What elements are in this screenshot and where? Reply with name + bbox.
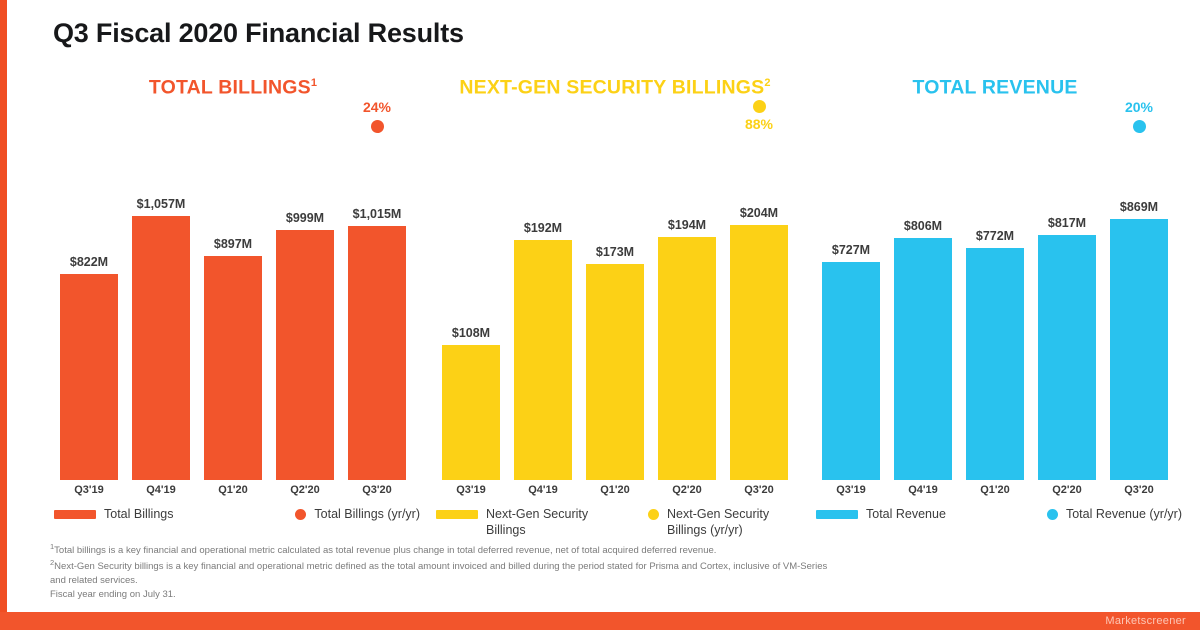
footnote-1-text: Total billings is a key financial and op… (54, 545, 716, 556)
left-accent-stripe (0, 0, 7, 630)
legend-label: Total Revenue (yr/yr) (1066, 506, 1182, 522)
x-axis-tick-label: Q3'20 (1110, 484, 1168, 496)
bar-column: $999M (276, 160, 334, 480)
bar-group: $108M$192M$173M$194M$204M (442, 160, 788, 480)
growth-callout: 20% (1109, 100, 1169, 133)
footnote-3: and related services. (50, 574, 1150, 588)
bar (1110, 219, 1168, 480)
growth-dot-marker (1133, 120, 1146, 133)
footnote-1: 1Total billings is a key financial and o… (50, 542, 1150, 558)
growth-callout: 24% (347, 100, 407, 133)
legend-bar-swatch-icon (436, 510, 478, 519)
x-axis-tick-label: Q2'20 (1038, 484, 1096, 496)
bar-value-label: $173M (596, 245, 634, 259)
bar-value-label: $108M (452, 326, 490, 340)
chart-legend: Total RevenueTotal Revenue (yr/yr) (816, 506, 1182, 522)
bar-column: $897M (204, 160, 262, 480)
bar (966, 248, 1024, 480)
bar-column: $1,057M (132, 160, 190, 480)
bar-value-label: $192M (524, 221, 562, 235)
bar (132, 216, 190, 480)
bar-column: $806M (894, 160, 952, 480)
watermark: Marketscreener (1105, 612, 1186, 630)
bar-value-label: $817M (1048, 216, 1086, 230)
bar-column: $1,015M (348, 160, 406, 480)
x-axis-tick-label: Q2'20 (276, 484, 334, 496)
legend-item[interactable]: Total Revenue (816, 506, 946, 522)
x-axis-labels: Q3'19Q4'19Q1'20Q2'20Q3'20 (442, 484, 788, 496)
bar-column: $772M (966, 160, 1024, 480)
footnote-4: Fiscal year ending on July 31. (50, 588, 1150, 602)
chart-legend: Total BillingsTotal Billings (yr/yr) (54, 506, 420, 522)
bar (658, 237, 716, 480)
legend-item[interactable]: Next-Gen Security Billings (436, 506, 621, 538)
bar (822, 262, 880, 480)
growth-percent: 20% (1109, 100, 1169, 114)
chart-title-text: TOTAL REVENUE (912, 77, 1077, 99)
footnotes: 1Total billings is a key financial and o… (50, 542, 1150, 601)
bar-column: $173M (586, 160, 644, 480)
legend-label: Total Revenue (866, 506, 946, 522)
footnote-2: 2Next-Gen Security billings is a key fin… (50, 558, 1150, 574)
legend-dot-swatch-icon (295, 509, 306, 520)
x-axis-tick-label: Q3'19 (822, 484, 880, 496)
x-axis-tick-label: Q1'20 (586, 484, 644, 496)
chart-title: TOTAL BILLINGS1 (38, 74, 428, 98)
legend-dot-swatch-icon (1047, 509, 1058, 520)
bar-column: $727M (822, 160, 880, 480)
x-axis-tick-label: Q3'19 (60, 484, 118, 496)
chart-title-superscript: 1 (311, 77, 317, 89)
bar (348, 226, 406, 480)
bar (894, 238, 952, 480)
bottom-accent-bar (0, 612, 1200, 630)
bar-value-label: $869M (1120, 200, 1158, 214)
bar (276, 230, 334, 480)
legend-label: Next-Gen Security Billings (yr/yr) (667, 506, 802, 538)
x-axis-tick-label: Q2'20 (658, 484, 716, 496)
growth-percent: 88% (729, 117, 789, 131)
chart-panel-total-revenue: TOTAL REVENUE 20% $727M$806M$772M$817M$8… (800, 74, 1190, 534)
plot-area: $108M$192M$173M$194M$204M (420, 160, 810, 480)
chart-panel-nextgen-security-billings: NEXT-GEN SECURITY BILLINGS2 88% $108M$19… (420, 74, 810, 534)
bar (60, 274, 118, 480)
x-axis-labels: Q3'19Q4'19Q1'20Q2'20Q3'20 (60, 484, 406, 496)
slide-root: Q3 Fiscal 2020 Financial Results TOTAL B… (0, 0, 1200, 630)
bar-value-label: $727M (832, 243, 870, 257)
chart-title-text: NEXT-GEN SECURITY BILLINGS (459, 77, 764, 99)
chart-title-text: TOTAL BILLINGS (149, 77, 311, 99)
bar-value-label: $1,057M (137, 197, 186, 211)
chart-panel-total-billings: TOTAL BILLINGS1 24% $822M$1,057M$897M$99… (38, 74, 428, 534)
bar-value-label: $999M (286, 211, 324, 225)
bar-column: $822M (60, 160, 118, 480)
bar-column: $869M (1110, 160, 1168, 480)
legend-bar-swatch-icon (54, 510, 96, 519)
bar-group: $727M$806M$772M$817M$869M (822, 160, 1168, 480)
bar-value-label: $897M (214, 237, 252, 251)
legend-label: Total Billings (yr/yr) (314, 506, 420, 522)
x-axis-tick-label: Q3'19 (442, 484, 500, 496)
bar (586, 264, 644, 480)
bar-value-label: $806M (904, 219, 942, 233)
bar (730, 225, 788, 480)
bar-value-label: $204M (740, 206, 778, 220)
x-axis-tick-label: Q3'20 (730, 484, 788, 496)
bar-value-label: $772M (976, 229, 1014, 243)
growth-dot-marker (371, 120, 384, 133)
chart-legend: Next-Gen Security BillingsNext-Gen Secur… (436, 506, 802, 538)
footnote-2-text: Next-Gen Security billings is a key fina… (54, 561, 827, 572)
bar-column: $817M (1038, 160, 1096, 480)
bar-column: $204M (730, 160, 788, 480)
legend-label: Next-Gen Security Billings (486, 506, 621, 538)
bar (1038, 235, 1096, 480)
legend-bar-swatch-icon (816, 510, 858, 519)
chart-title-superscript: 2 (764, 77, 770, 89)
x-axis-tick-label: Q4'19 (132, 484, 190, 496)
legend-item[interactable]: Total Revenue (yr/yr) (1047, 506, 1182, 522)
plot-area: $822M$1,057M$897M$999M$1,015M (38, 160, 428, 480)
bar-value-label: $194M (668, 218, 706, 232)
x-axis-tick-label: Q4'19 (514, 484, 572, 496)
bar (514, 240, 572, 480)
growth-percent: 24% (347, 100, 407, 114)
page-title: Q3 Fiscal 2020 Financial Results (53, 18, 464, 49)
bar (204, 256, 262, 480)
bar-group: $822M$1,057M$897M$999M$1,015M (60, 160, 406, 480)
bar (442, 345, 500, 480)
x-axis-labels: Q3'19Q4'19Q1'20Q2'20Q3'20 (822, 484, 1168, 496)
x-axis-tick-label: Q1'20 (204, 484, 262, 496)
legend-label: Total Billings (104, 506, 173, 522)
bar-column: $192M (514, 160, 572, 480)
bar-value-label: $1,015M (353, 207, 402, 221)
bar-column: $194M (658, 160, 716, 480)
chart-title: NEXT-GEN SECURITY BILLINGS2 (420, 74, 810, 98)
x-axis-tick-label: Q4'19 (894, 484, 952, 496)
growth-callout: 88% (729, 100, 789, 131)
legend-item[interactable]: Total Billings (54, 506, 173, 522)
plot-area: $727M$806M$772M$817M$869M (800, 160, 1190, 480)
legend-item[interactable]: Total Billings (yr/yr) (295, 506, 420, 522)
x-axis-tick-label: Q3'20 (348, 484, 406, 496)
chart-title: TOTAL REVENUE (800, 74, 1190, 98)
legend-dot-swatch-icon (648, 509, 659, 520)
growth-dot-marker (753, 100, 766, 113)
bar-column: $108M (442, 160, 500, 480)
x-axis-tick-label: Q1'20 (966, 484, 1024, 496)
bar-value-label: $822M (70, 255, 108, 269)
legend-item[interactable]: Next-Gen Security Billings (yr/yr) (648, 506, 802, 538)
